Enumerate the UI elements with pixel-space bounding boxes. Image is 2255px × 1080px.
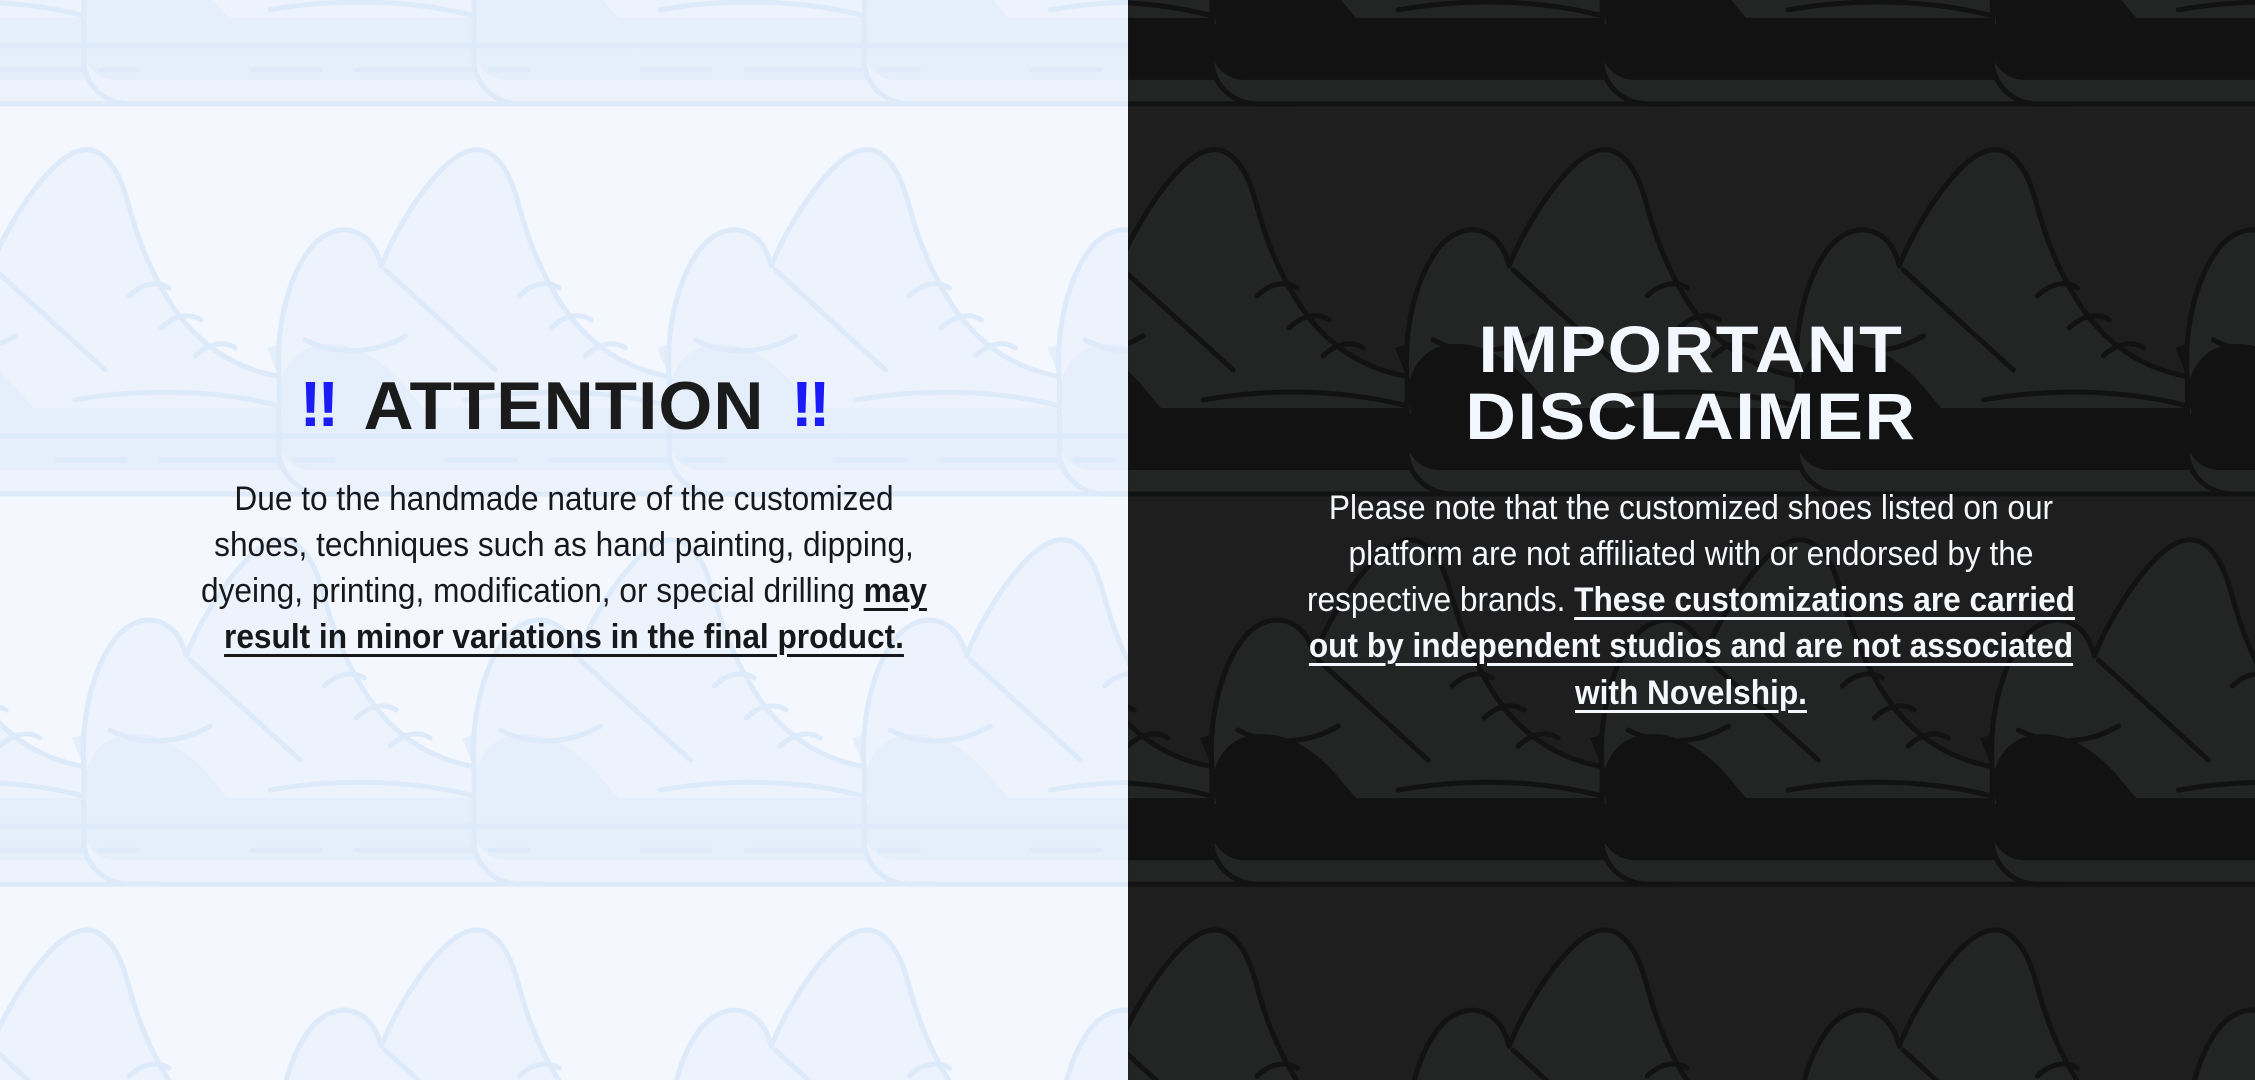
attention-body-normal: Due to the handmade nature of the custom… (201, 480, 914, 610)
disclaimer-panel: IMPORTANT DISCLAIMER Please note that th… (1128, 0, 2255, 1080)
panel-divider (1128, 0, 1129, 1080)
disclaimer-heading-line1: IMPORTANT (1251, 316, 2131, 383)
disclaimer-body: Please note that the customized shoes li… (1305, 485, 2077, 716)
customization-notice-banner: ‼ ATTENTION ‼ Due to the handmade nature… (0, 0, 2255, 1080)
double-exclamation-icon-right: ‼ (791, 372, 828, 436)
attention-panel: ‼ ATTENTION ‼ Due to the handmade nature… (0, 0, 1128, 1080)
attention-heading: ‼ ATTENTION ‼ (161, 372, 967, 440)
attention-heading-text: ATTENTION (363, 372, 764, 440)
disclaimer-content: IMPORTANT DISCLAIMER Please note that th… (1276, 316, 2106, 716)
double-exclamation-icon-left: ‼ (299, 372, 336, 436)
attention-content: ‼ ATTENTION ‼ Due to the handmade nature… (169, 372, 959, 661)
attention-body: Due to the handmade nature of the custom… (196, 476, 931, 661)
disclaimer-heading: IMPORTANT DISCLAIMER (1251, 316, 2131, 451)
disclaimer-heading-line2: DISCLAIMER (1251, 383, 2131, 450)
